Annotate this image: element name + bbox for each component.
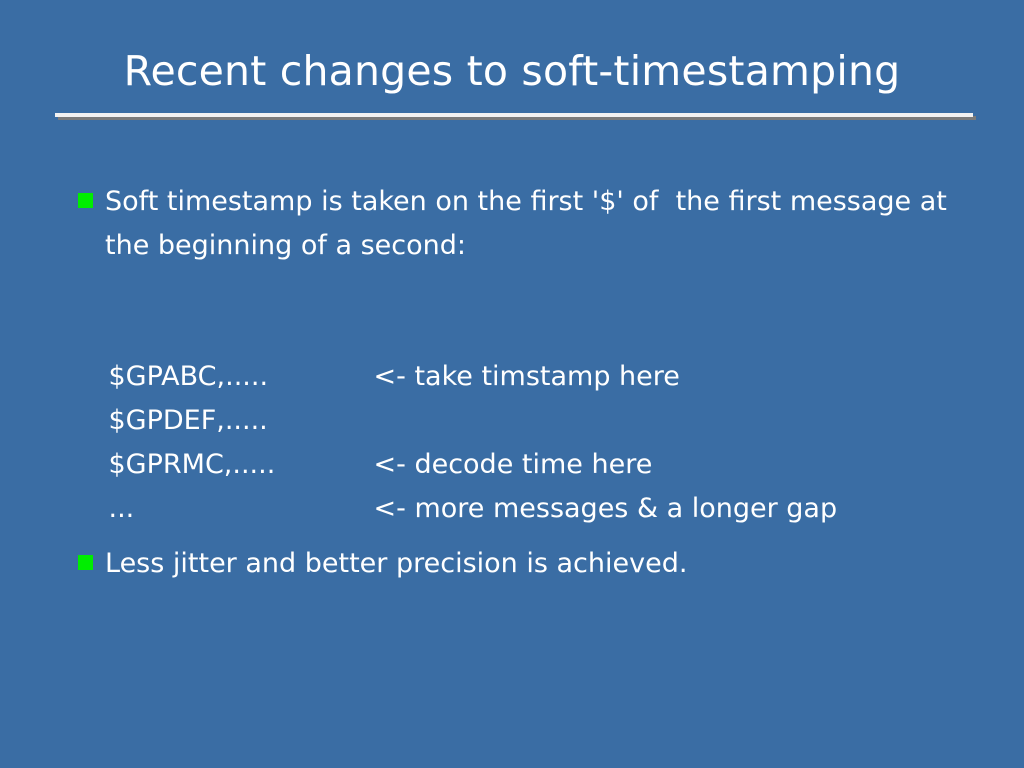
- message-line: $GPABC,.....<- take timstamp here: [57, 311, 997, 355]
- list-item: Less jitter and better precision is achi…: [78, 542, 978, 586]
- message-line: ...<- more messages & a longer gap: [57, 443, 997, 487]
- list-item: Soft timestamp is taken on the first '$'…: [78, 180, 978, 268]
- square-bullet-icon: [78, 555, 93, 570]
- bullet-text: Soft timestamp is taken on the first '$'…: [105, 180, 978, 268]
- square-bullet-icon: [78, 193, 93, 208]
- message-line: $GPDEF,.....: [57, 355, 997, 399]
- message-label: ...: [109, 487, 374, 531]
- bullet-text: Less jitter and better precision is achi…: [105, 542, 978, 586]
- slide-body: Soft timestamp is taken on the first '$'…: [0, 0, 1024, 768]
- message-annotation: <- more messages & a longer gap: [374, 487, 838, 531]
- presentation-slide: Recent changes to soft-timestamping Soft…: [0, 0, 1024, 768]
- message-line: $GPRMC,.....<- decode time here: [57, 399, 997, 443]
